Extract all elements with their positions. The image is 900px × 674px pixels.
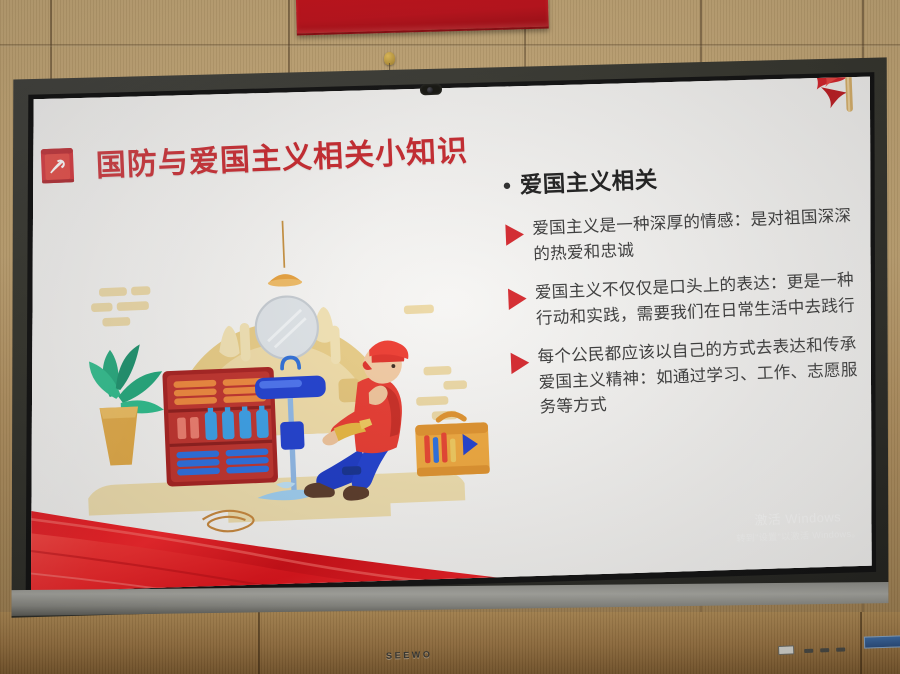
list-item: 爱国主义是一种深厚的情感：是对祖国深深的热爱和忠诚: [505, 204, 860, 269]
list-item: 每个公民都应该以自己的方式去表达和传承爱国主义精神：如通过学习、工作、志愿服务等…: [510, 332, 866, 422]
lower-panel-seam: [258, 612, 260, 674]
list-item-text: 每个公民都应该以自己的方式去表达和传承爱国主义精神：如通过学习、工作、志愿服务等…: [537, 332, 866, 421]
bullet-dot-icon: [504, 182, 511, 189]
device-sticker: [864, 635, 900, 648]
red-triangle-icon: [508, 288, 527, 310]
wall-trim-band: [0, 44, 900, 47]
port-icon[interactable]: [820, 648, 829, 652]
slide-text-content: 爱国主义相关 爱国主义是一种深厚的情感：是对祖国深深的热爱和忠诚 爱国主义不仅仅…: [503, 154, 867, 436]
port-icon[interactable]: [804, 649, 813, 653]
list-item-text: 爱国主义是一种深厚的情感：是对祖国深深的热爱和忠诚: [532, 204, 860, 268]
lower-wood-panel: [0, 612, 900, 674]
presentation-slide: 国防与爱国主义相关小知识: [8, 54, 892, 620]
seewo-interactive-display[interactable]: 国防与爱国主义相关小知识: [8, 54, 892, 620]
list-item: 爱国主义不仅仅是口头上的表达：更是一种行动和实践，需要我们在日常生活中去践行: [508, 268, 863, 333]
port-icon[interactable]: [836, 647, 845, 651]
brand-label: SEEWO: [386, 649, 433, 661]
red-triangle-icon: [505, 224, 524, 246]
usb-port-icon[interactable]: [778, 645, 794, 655]
display-screen[interactable]: 国防与爱国主义相关小知识: [8, 54, 892, 620]
party-book-icon: [35, 143, 80, 188]
camera-icon: [420, 84, 442, 96]
lower-panel-seam: [860, 612, 862, 674]
heading-label: 爱国主义相关: [519, 163, 658, 201]
list-item-text: 爱国主义不仅仅是口头上的表达：更是一种行动和实践，需要我们在日常生活中去践行: [534, 268, 862, 332]
red-triangle-icon: [511, 352, 530, 374]
